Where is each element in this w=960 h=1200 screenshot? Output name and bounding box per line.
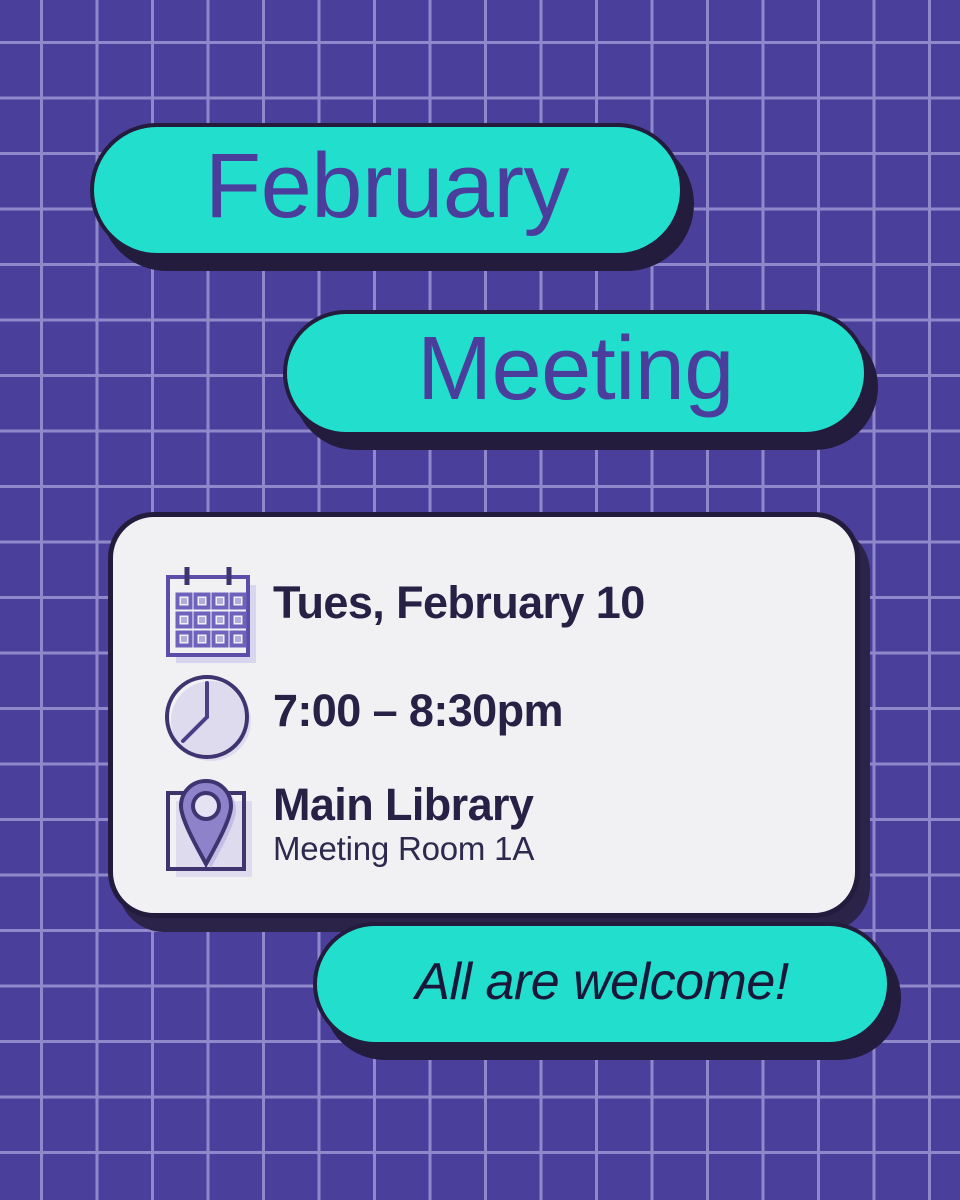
event-poster: February Meeting: [0, 0, 960, 1200]
detail-text-location: Main Library Meeting Room 1A: [273, 775, 534, 868]
event-details-card-body: Tues, February 10 7:00 – 8:30pm: [108, 512, 860, 918]
title-line-2: Meeting: [417, 324, 734, 422]
title-pill-february-body: February: [90, 123, 684, 257]
detail-row-date: Tues, February 10: [159, 561, 855, 665]
title-pill-meeting: Meeting: [283, 310, 868, 436]
map-pin-icon: [159, 775, 263, 875]
title-pill-meeting-body: Meeting: [283, 310, 868, 436]
event-location-room: Meeting Room 1A: [273, 830, 534, 868]
welcome-message: All are welcome!: [415, 956, 788, 1012]
welcome-pill-body: All are welcome!: [313, 922, 891, 1046]
welcome-pill: All are welcome!: [313, 922, 891, 1046]
event-time: 7:00 – 8:30pm: [273, 687, 563, 734]
detail-text-time: 7:00 – 8:30pm: [273, 669, 563, 734]
clock-icon: [159, 669, 263, 769]
detail-row-time: 7:00 – 8:30pm: [159, 669, 855, 769]
detail-row-location: Main Library Meeting Room 1A: [159, 775, 855, 875]
title-pill-february: February: [90, 123, 684, 257]
event-details-card: Tues, February 10 7:00 – 8:30pm: [108, 512, 860, 918]
calendar-icon: [159, 561, 263, 665]
event-date: Tues, February 10: [273, 579, 645, 626]
detail-text-date: Tues, February 10: [273, 561, 645, 626]
title-line-1: February: [205, 140, 569, 240]
event-location-name: Main Library: [273, 781, 534, 828]
